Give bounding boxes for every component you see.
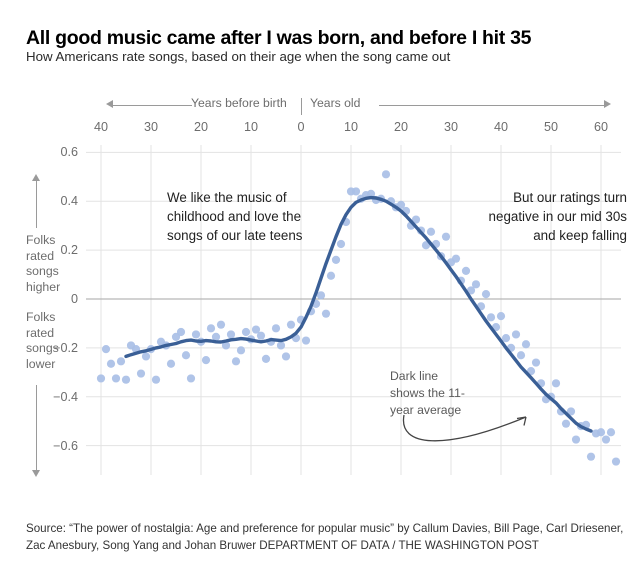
annotation-left: We like the music of childhood and love …: [167, 188, 319, 245]
y-lower-rule: [36, 385, 37, 470]
scatter-point: [352, 187, 360, 195]
y-tick-label: −0.4: [53, 390, 78, 404]
scatter-point: [237, 346, 245, 354]
scatter-point: [117, 357, 125, 365]
scatter-point: [122, 376, 130, 384]
y-axis-higher-label: Folks rated songs higher: [26, 233, 78, 296]
scatter-point: [472, 280, 480, 288]
scatter-point: [227, 330, 235, 338]
scatter-point: [187, 374, 195, 382]
x-axis-zero-divider: [301, 98, 302, 115]
scatter-point: [517, 351, 525, 359]
x-tick-label: 20: [394, 120, 408, 134]
scatter-point: [572, 435, 580, 443]
left-arrow-icon: [106, 100, 113, 108]
x-axis-caption-band: Years before birth Years old: [0, 95, 640, 117]
scatter-point: [587, 453, 595, 461]
x-axis-left-caption: Years before birth: [191, 96, 287, 110]
scatter-point: [607, 428, 615, 436]
scatter-point: [332, 256, 340, 264]
page-title: All good music came after I was born, an…: [26, 27, 626, 50]
annotation-arrowhead-icon: [517, 417, 526, 426]
x-tick-label: 40: [94, 120, 108, 134]
y-tick-label: 0.6: [60, 145, 78, 159]
annotation-dark-line-note: Dark line shows the 11-year average: [390, 368, 476, 419]
scatter-point: [152, 376, 160, 384]
x-axis-tick-labels: 403020100102030405060: [0, 120, 640, 138]
scatter-point: [167, 360, 175, 368]
scatter-point: [597, 428, 605, 436]
scatter-point: [97, 374, 105, 382]
scatter-point: [442, 233, 450, 241]
x-tick-label: 30: [144, 120, 158, 134]
scatter-point: [182, 351, 190, 359]
left-axis-rule: [112, 105, 192, 106]
scatter-point: [107, 360, 115, 368]
scatter-point: [382, 170, 390, 178]
x-tick-label: 10: [244, 120, 258, 134]
scatter-point: [302, 336, 310, 344]
scatter-point: [522, 340, 530, 348]
right-axis-rule: [379, 105, 606, 106]
y-tick-label: 0.4: [60, 194, 78, 208]
scatter-point: [497, 312, 505, 320]
y-higher-rule: [36, 180, 37, 228]
x-tick-label: 30: [444, 120, 458, 134]
right-arrow-icon: [604, 100, 611, 108]
scatter-point: [532, 358, 540, 366]
scatter-point: [217, 321, 225, 329]
scatter-point: [137, 369, 145, 377]
scatter-point: [502, 334, 510, 342]
scatter-point: [317, 291, 325, 299]
scatter-point: [202, 356, 210, 364]
scatter-point: [102, 345, 110, 353]
scatter-point: [272, 324, 280, 332]
x-tick-label: 20: [194, 120, 208, 134]
scatter-point: [512, 330, 520, 338]
scatter-point: [112, 374, 120, 382]
scatter-point: [192, 330, 200, 338]
y-tick-label: −0.6: [53, 439, 78, 453]
scatter-point: [207, 324, 215, 332]
scatter-point: [462, 267, 470, 275]
x-tick-label: 40: [494, 120, 508, 134]
scatter-point: [602, 435, 610, 443]
scatter-point: [427, 228, 435, 236]
scatter-point: [487, 313, 495, 321]
scatter-point: [232, 357, 240, 365]
scatter-point: [282, 352, 290, 360]
scatter-point: [612, 457, 620, 465]
chart-page: All good music came after I was born, an…: [0, 0, 640, 567]
scatter-point: [262, 355, 270, 363]
page-subtitle: How Americans rate songs, based on their…: [26, 48, 626, 65]
x-tick-label: 60: [594, 120, 608, 134]
annotation-right: But our ratings turn negative in our mid…: [487, 188, 627, 245]
scatter-point: [242, 328, 250, 336]
scatter-point: [287, 321, 295, 329]
x-tick-label: 50: [544, 120, 558, 134]
x-tick-label: 0: [297, 120, 304, 134]
x-axis-right-caption: Years old: [310, 96, 360, 110]
y-axis-lower-label: Folks rated songs lower: [26, 310, 78, 373]
scatter-point: [327, 272, 335, 280]
scatter-point: [482, 290, 490, 298]
scatter-point: [257, 332, 265, 340]
x-tick-label: 10: [344, 120, 358, 134]
scatter-point: [322, 310, 330, 318]
up-arrow-icon: [32, 174, 40, 181]
down-arrow-icon: [32, 470, 40, 477]
scatter-point: [552, 379, 560, 387]
source-credit: Source: “The power of nostalgia: Age and…: [26, 521, 626, 555]
scatter-point: [562, 420, 570, 428]
scatter-point: [337, 240, 345, 248]
scatter-point: [452, 255, 460, 263]
scatter-point: [277, 341, 285, 349]
scatter-point: [177, 328, 185, 336]
scatter-point: [142, 352, 150, 360]
